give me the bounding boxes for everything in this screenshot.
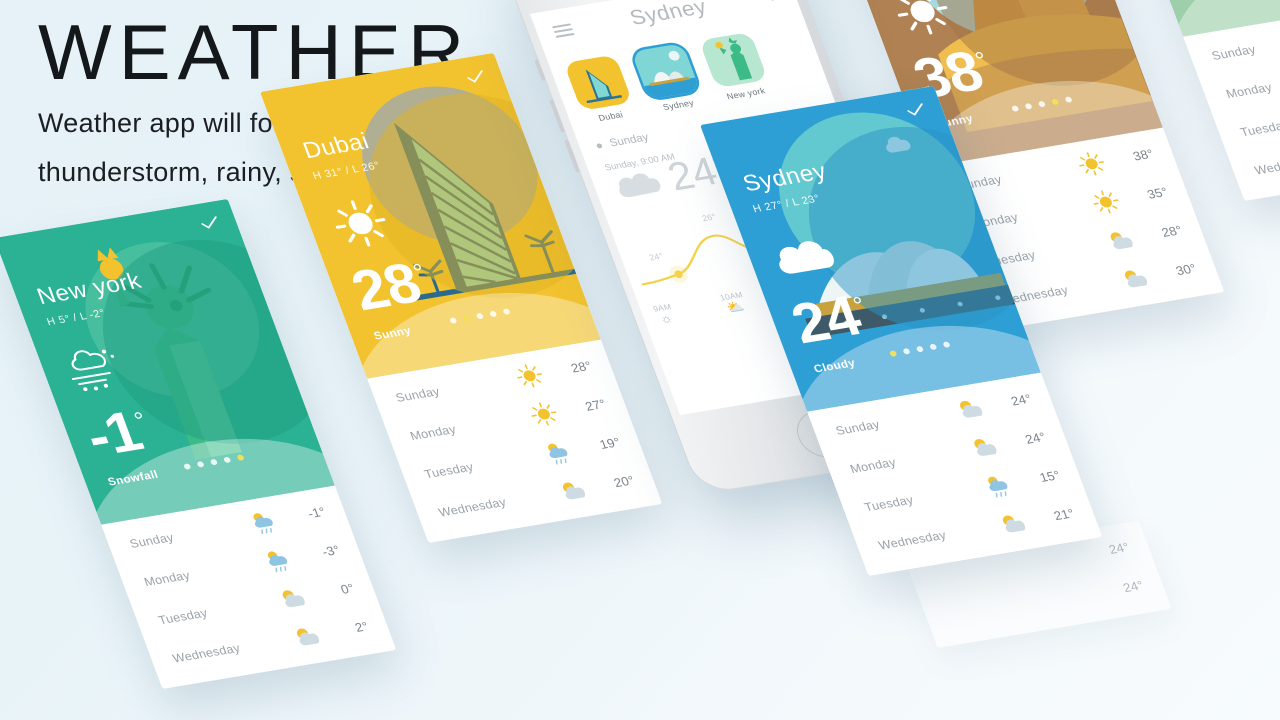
forecast-temp: 2° (320, 619, 370, 640)
carousel-dot[interactable] (1011, 105, 1019, 112)
forecast-day: Monday (848, 443, 972, 476)
carousel-dot[interactable] (1038, 101, 1046, 108)
showcase-stage: WEATHER Weather app will forecast thunde… (0, 0, 1280, 720)
check-icon[interactable] (905, 102, 927, 116)
forecast-day: Sunday (1210, 30, 1280, 63)
forecast-day: Tuesday (984, 236, 1108, 269)
forecast-day: Sunday (394, 372, 518, 405)
forecast-temp: 0° (306, 581, 356, 602)
forecast-day: Monday (970, 198, 1094, 231)
forecast-day: Wednesday (999, 274, 1123, 307)
check-icon[interactable] (199, 215, 221, 229)
check-icon[interactable] (465, 69, 487, 83)
carousel-dot[interactable] (1051, 98, 1059, 105)
bullet-icon (596, 143, 603, 149)
forecast-temp: 15° (1012, 468, 1062, 489)
hour-col: 9AM ☼ (652, 302, 678, 327)
forecast-temp: 30° (1148, 261, 1198, 282)
forecast-day: Sunday (956, 160, 1080, 193)
carousel-dot[interactable] (902, 348, 910, 355)
city-thumb-sydney (631, 43, 700, 99)
forecast-temp: 19° (572, 435, 622, 456)
detail-day: Sunday (608, 131, 651, 149)
carousel-dot[interactable] (889, 350, 897, 357)
forecast-day: Wednesday (877, 519, 1001, 552)
forecast-day: Tuesday (422, 448, 546, 481)
forecast-day: Monday (1224, 68, 1280, 101)
carousel-dot[interactable] (1024, 103, 1032, 110)
city-tile-sydney[interactable]: Sydney (631, 43, 705, 114)
forecast-day: Tuesday (156, 594, 280, 627)
forecast-temp: 28° (543, 359, 593, 380)
city-tile-dubai[interactable]: Dubai (564, 54, 638, 125)
forecast-day: Wednesday (171, 632, 295, 665)
forecast-day: Wednesday (1253, 144, 1280, 177)
forecast-temp: 21° (1026, 506, 1076, 527)
carousel-dot[interactable] (223, 456, 231, 463)
carousel-dot[interactable] (196, 461, 204, 468)
forecast-day: Sunday (834, 405, 958, 438)
carousel-dot[interactable] (449, 317, 457, 324)
forecast-day: Monday (408, 410, 532, 443)
forecast-temp: -1° (277, 505, 327, 526)
forecast-temp: 27° (558, 397, 608, 418)
forecast-temp: 24° (983, 392, 1033, 413)
carousel-dot[interactable] (489, 310, 497, 317)
forecast-temp: 35° (1120, 185, 1170, 206)
forecast-temp: 20° (586, 473, 636, 494)
forecast-temp: 24° (998, 430, 1048, 451)
forecast-temp: -3° (292, 543, 342, 564)
forecast-temp: 24° (1081, 540, 1131, 561)
forecast-temp: 38° (1105, 147, 1155, 168)
carousel-dot[interactable] (916, 346, 924, 353)
forecast-day: Wednesday (437, 486, 561, 519)
forecast-day: Tuesday (1238, 106, 1280, 139)
carousel-dot[interactable] (929, 343, 937, 350)
carousel-dot[interactable] (210, 459, 218, 466)
carousel-dot[interactable] (476, 313, 484, 320)
card-hero: New yorkH 5° / L -2°-1°Snowfall (0, 199, 335, 525)
hour-col: 10AM ⛅ (719, 290, 750, 316)
sun-icon: ☼ (655, 311, 678, 328)
city-tile-new-york[interactable]: New york (699, 32, 773, 103)
forecast-day: Monday (142, 556, 266, 589)
forecast-day: Sunday (128, 518, 252, 551)
city-thumb-dubai (564, 54, 633, 110)
cloud-sun-icon: ⛅ (722, 299, 749, 316)
cloud-icon (605, 160, 673, 207)
city-thumb-new-york (699, 32, 768, 88)
forecast-temp: 28° (1134, 223, 1184, 244)
forecast-day: Tuesday (862, 481, 986, 514)
forecast-temp: 24° (1095, 578, 1145, 599)
carousel-dot[interactable] (462, 315, 470, 322)
carousel-dot[interactable] (183, 463, 191, 470)
